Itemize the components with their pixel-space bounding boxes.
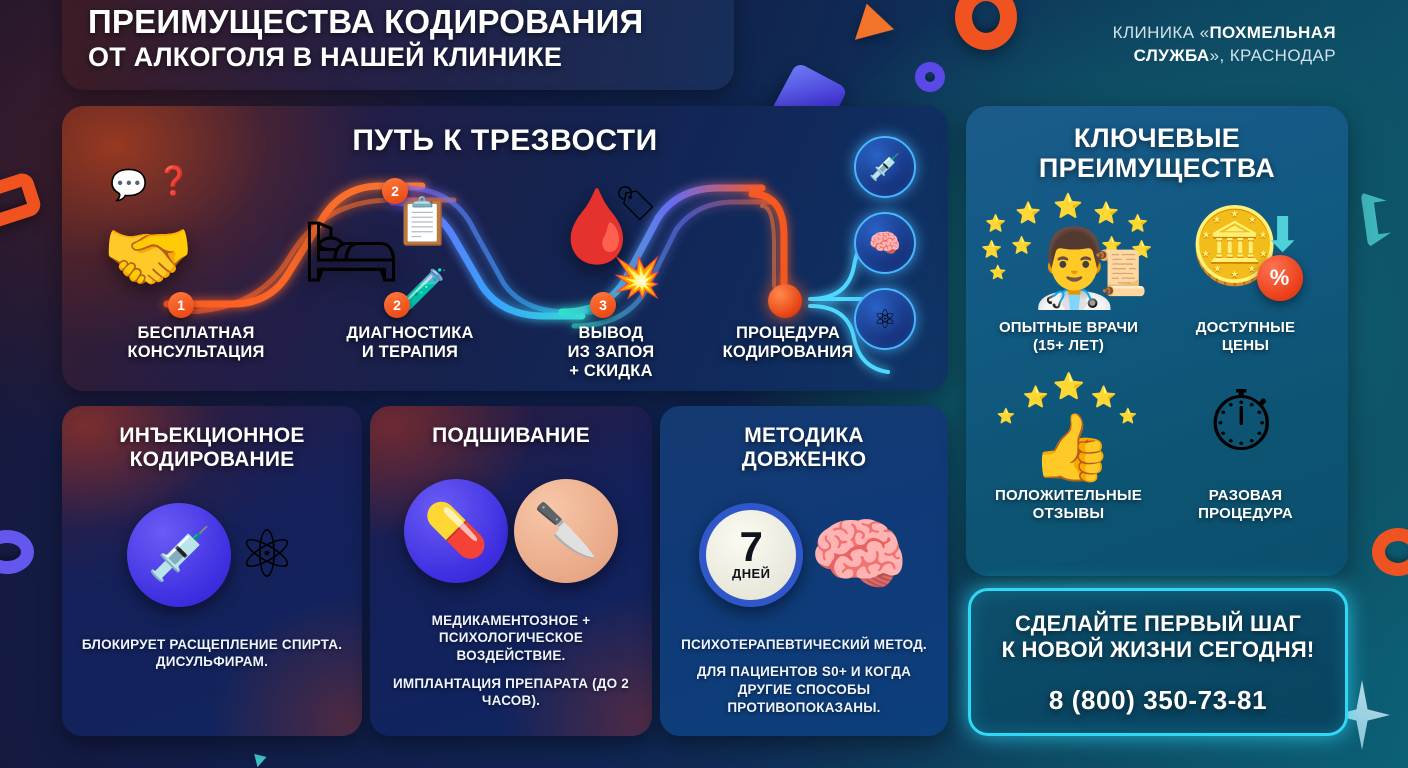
advantages-title-line1: КЛЮЧЕВЫЕ bbox=[966, 124, 1348, 154]
method-card-1-desc-1: БЛОКИРУЕТ РАСЩЕПЛЕНИЕ СПИРТА. ДИСУЛЬФИРА… bbox=[76, 636, 348, 671]
star-icon: ⭐ bbox=[1093, 203, 1118, 224]
advantage-item-doctors: ⭐ ⭐ ⭐ ⭐ ⭐ ⭐ ⭐ ⭐ ⭐ ⭐ 👨‍⚕️ 📜 bbox=[980, 197, 1157, 355]
advantage-3-line2: ОТЗЫВЫ bbox=[980, 505, 1157, 523]
advantage-2-line1: ДОСТУПНЫЕ bbox=[1157, 319, 1334, 337]
method-card-1-title: ИНЪЕКЦИОННОЕ КОДИРОВАНИЕ bbox=[76, 424, 348, 472]
molecule-icon: ⚛ bbox=[237, 516, 296, 593]
step-label-4: ПРОЦЕДУРА КОДИРОВАНИЯ bbox=[702, 324, 874, 362]
coins-discount-arrow-icon: 🪙 ⬇ % bbox=[1157, 197, 1334, 313]
step-number-2: 2 bbox=[384, 292, 410, 318]
advantage-item-prices: 🪙 ⬇ % ДОСТУПНЫЕ ЦЕНЫ bbox=[1157, 197, 1334, 355]
syringe-disc-icon: 💉 bbox=[127, 503, 231, 607]
step-2-line2: И ТЕРАПИЯ bbox=[312, 343, 508, 362]
star-icon: ⭐ bbox=[1119, 409, 1137, 424]
clipboard-chart-icon: 📋 bbox=[394, 194, 451, 249]
method-card-1-art: 💉 ⚛ bbox=[76, 480, 348, 630]
purple-ring-left-icon bbox=[0, 530, 34, 574]
infographic-stage: ПРЕИМУЩЕСТВА КОДИРОВАНИЯ ОТ АЛКОГОЛЯ В Н… bbox=[0, 0, 1408, 768]
advantage-3-label: ПОЛОЖИТЕЛЬНЫЕ ОТЗЫВЫ bbox=[980, 487, 1157, 523]
step-2-line1: ДИАГНОСТИКА bbox=[312, 324, 508, 343]
method-card-3-title-line2: ДОВЖЕНКО bbox=[674, 448, 934, 472]
star-icon: ⭐ bbox=[989, 265, 1005, 279]
ct-scanner-diagnostics-icon: 🛏 bbox=[302, 206, 401, 298]
advantage-2-label: ДОСТУПНЫЕ ЦЕНЫ bbox=[1157, 319, 1334, 355]
clock-unit: ДНЕЙ bbox=[732, 566, 770, 581]
thumbs-up-stars-icon: ⭐ ⭐ ⭐ ⭐ ⭐ 👍 bbox=[980, 365, 1157, 481]
step-number-3: 3 bbox=[590, 292, 616, 318]
advantage-1-line1: ОПЫТНЫЕ ВРАЧИ bbox=[980, 319, 1157, 337]
star-icon: ⭐ bbox=[1015, 203, 1040, 224]
clock-7-days-icon: 7 ДНЕЙ bbox=[699, 503, 803, 607]
star-icon: ⭐ bbox=[1127, 215, 1147, 232]
capsule-disc-icon: 💊 bbox=[404, 479, 508, 583]
star-icon: ⭐ bbox=[1023, 387, 1048, 408]
step-1-line1: БЕСПЛАТНАЯ bbox=[98, 324, 294, 343]
key-advantages-panel: КЛЮЧЕВЫЕ ПРЕИМУЩЕСТВА ⭐ ⭐ ⭐ ⭐ ⭐ ⭐ ⭐ ⭐ ⭐ bbox=[966, 106, 1348, 576]
method-card-3-desc-1: ПСИХОТЕРАПЕВТИЧЕСКИЙ МЕТОД. bbox=[674, 636, 934, 654]
method-card-2-title: ПОДШИВАНИЕ bbox=[384, 424, 638, 448]
star-icon: ⭐ bbox=[985, 215, 1005, 232]
step-3-line1: ВЫВОД bbox=[528, 324, 694, 343]
clock-number: 7 bbox=[740, 529, 763, 566]
step-1-line2: КОНСУЛЬТАЦИЯ bbox=[98, 343, 294, 362]
method-card-injection: ИНЪЕКЦИОННОЕ КОДИРОВАНИЕ 💉 ⚛ БЛОКИРУЕТ Р… bbox=[62, 406, 362, 736]
cta-line-2: К НОВОЙ ЖИЗНИ СЕГОДНЯ! bbox=[971, 637, 1345, 663]
clinic-suffix: », КРАСНОДАР bbox=[1210, 46, 1336, 65]
orange-triangle-icon bbox=[855, 4, 899, 51]
star-icon: ⭐ bbox=[1053, 373, 1084, 399]
method-card-1-desc: БЛОКИРУЕТ РАСЩЕПЛЕНИЕ СПИРТА. ДИСУЛЬФИРА… bbox=[76, 636, 348, 671]
method-card-3-title: МЕТОДИКА ДОВЖЕНКО bbox=[674, 424, 934, 472]
coding-procedure-hub-icon bbox=[768, 284, 802, 318]
advantage-4-line2: ПРОЦЕДУРА bbox=[1157, 505, 1334, 523]
stopwatch-icon: ⏱ bbox=[1157, 365, 1334, 481]
doctor-stars-certificate-icon: ⭐ ⭐ ⭐ ⭐ ⭐ ⭐ ⭐ ⭐ ⭐ ⭐ 👨‍⚕️ 📜 bbox=[980, 197, 1157, 313]
method-card-3-desc: ПСИХОТЕРАПЕВТИЧЕСКИЙ МЕТОД. ДЛЯ ПАЦИЕНТО… bbox=[674, 636, 934, 716]
step-label-2: ДИАГНОСТИКА И ТЕРАПИЯ bbox=[312, 324, 508, 362]
clinic-name: КЛИНИКА «ПОХМЕЛЬНАЯ СЛУЖБА», КРАСНОДАР bbox=[1036, 22, 1336, 68]
advantage-4-line1: РАЗОВАЯ bbox=[1157, 487, 1334, 505]
method-card-3-title-line1: МЕТОДИКА bbox=[674, 424, 934, 448]
orange-square-outline-icon bbox=[0, 170, 43, 229]
step-label-3: ВЫВОД ИЗ ЗАПОЯ + СКИДКА bbox=[528, 324, 694, 381]
header-banner: ПРЕИМУЩЕСТВА КОДИРОВАНИЯ ОТ АЛКОГОЛЯ В Н… bbox=[62, 0, 734, 90]
step-number-1: 1 bbox=[168, 292, 194, 318]
cta-line-1: СДЕЛАЙТЕ ПЕРВЫЙ ШАГ bbox=[971, 611, 1345, 637]
step-label-1: БЕСПЛАТНАЯ КОНСУЛЬТАЦИЯ bbox=[98, 324, 294, 362]
advantages-title: КЛЮЧЕВЫЕ ПРЕИМУЩЕСТВА bbox=[966, 124, 1348, 183]
method-card-2-art: 💊 🔪 bbox=[384, 456, 638, 606]
purple-ring-icon bbox=[915, 62, 945, 92]
certificate-icon: 📜 bbox=[1093, 247, 1148, 299]
page-title-line2: ОТ АЛКОГОЛЯ В НАШЕЙ КЛИНИКЕ bbox=[88, 42, 734, 72]
method-card-implant: ПОДШИВАНИЕ 💊 🔪 МЕДИКАМЕНТОЗНОЕ + ПСИХОЛО… bbox=[370, 406, 652, 736]
advantage-item-reviews: ⭐ ⭐ ⭐ ⭐ ⭐ 👍 ПОЛОЖИТЕЛЬНЫЕ ОТЗЫВЫ bbox=[980, 365, 1157, 523]
advantage-2-line2: ЦЕНЫ bbox=[1157, 337, 1334, 355]
percent-badge-icon: % bbox=[1257, 255, 1303, 301]
step-number-2-top: 2 bbox=[382, 178, 408, 204]
advantage-3-line1: ПОЛОЖИТЕЛЬНЫЕ bbox=[980, 487, 1157, 505]
cta-phone-number[interactable]: 8 (800) 350-73-81 bbox=[971, 685, 1345, 716]
method-card-3-art: 7 ДНЕЙ 🧠 bbox=[674, 480, 934, 630]
cta-panel[interactable]: СДЕЛАЙТЕ ПЕРВЫЙ ШАГ К НОВОЙ ЖИЗНИ СЕГОДН… bbox=[968, 588, 1348, 736]
method-card-3-desc-2: ДЛЯ ПАЦИЕНТОВ S0+ И КОГДА ДРУГИЕ СПОСОБЫ… bbox=[674, 663, 934, 716]
step-4-line1: ПРОЦЕДУРА bbox=[702, 324, 874, 343]
step-3-line3: + СКИДКА bbox=[528, 362, 694, 381]
path-to-sobriety-panel: ПУТЬ К ТРЕЗВОСТИ bbox=[62, 106, 948, 391]
step-3-line2: ИЗ ЗАПОЯ bbox=[528, 343, 694, 362]
step-4-line2: КОДИРОВАНИЯ bbox=[702, 343, 874, 362]
stopwatch-glyph-icon: ⏱ bbox=[1209, 373, 1275, 471]
method-card-2-desc: МЕДИКАМЕНТОЗНОЕ + ПСИХОЛОГИЧЕСКОЕ ВОЗДЕЙ… bbox=[384, 612, 638, 710]
star-icon: ⭐ bbox=[1091, 387, 1116, 408]
method-card-1-title-line2: КОДИРОВАНИЕ bbox=[76, 448, 348, 472]
advantage-item-single-procedure: ⏱ РАЗОВАЯ ПРОЦЕДУРА bbox=[1157, 365, 1334, 523]
brain-head-icon: 🧠 bbox=[854, 212, 916, 274]
advantages-title-line2: ПРЕИМУЩЕСТВА bbox=[966, 154, 1348, 184]
speech-bubble-question-icon: 💬 bbox=[110, 168, 147, 203]
method-card-2-desc-2: ИМПЛАНТАЦИЯ ПРЕПАРАТА (ДО 2 ЧАСОВ). bbox=[384, 675, 638, 710]
skin-incision-disc-icon: 🔪 bbox=[514, 479, 618, 583]
star-icon: ⭐ bbox=[1053, 195, 1082, 219]
method-card-2-title-line1: ПОДШИВАНИЕ bbox=[384, 424, 638, 448]
syringe-icon: 💉 bbox=[854, 136, 916, 198]
thumbs-up-icon: 👍 bbox=[1031, 409, 1113, 487]
method-card-dovzhenko: МЕТОДИКА ДОВЖЕНКО 7 ДНЕЙ 🧠 ПСИХОТЕРАПЕВТ… bbox=[660, 406, 948, 736]
advantage-1-line2: (15+ ЛЕТ) bbox=[980, 337, 1157, 355]
clinic-prefix: КЛИНИКА « bbox=[1113, 23, 1210, 42]
advantage-4-label: РАЗОВАЯ ПРОЦЕДУРА bbox=[1157, 487, 1334, 523]
star-icon: ⭐ bbox=[981, 241, 1001, 258]
method-card-1-title-line1: ИНЪЕКЦИОННОЕ bbox=[76, 424, 348, 448]
speech-bubble-question-orange-icon: ❓ bbox=[156, 164, 191, 197]
discount-tag-icon: 🏷 bbox=[614, 184, 657, 224]
method-card-2-desc-1: МЕДИКАМЕНТОЗНОЕ + ПСИХОЛОГИЧЕСКОЕ ВОЗДЕЙ… bbox=[384, 612, 638, 665]
page-title-line1: ПРЕИМУЩЕСТВА КОДИРОВАНИЯ bbox=[88, 4, 734, 40]
percent-badge-icon: 💥 bbox=[612, 254, 662, 301]
brain-head-icon: 🧠 bbox=[809, 508, 909, 602]
advantages-grid: ⭐ ⭐ ⭐ ⭐ ⭐ ⭐ ⭐ ⭐ ⭐ ⭐ 👨‍⚕️ 📜 bbox=[966, 197, 1348, 523]
orange-ring-right-icon bbox=[1372, 528, 1408, 576]
advantage-1-label: ОПЫТНЫЕ ВРАЧИ (15+ ЛЕТ) bbox=[980, 319, 1157, 355]
star-icon: ⭐ bbox=[997, 409, 1015, 424]
handshake-consultation-icon: 🤝 bbox=[102, 214, 194, 301]
teal-triangle-right-icon bbox=[1360, 184, 1408, 248]
orange-torus-icon bbox=[955, 0, 1017, 50]
